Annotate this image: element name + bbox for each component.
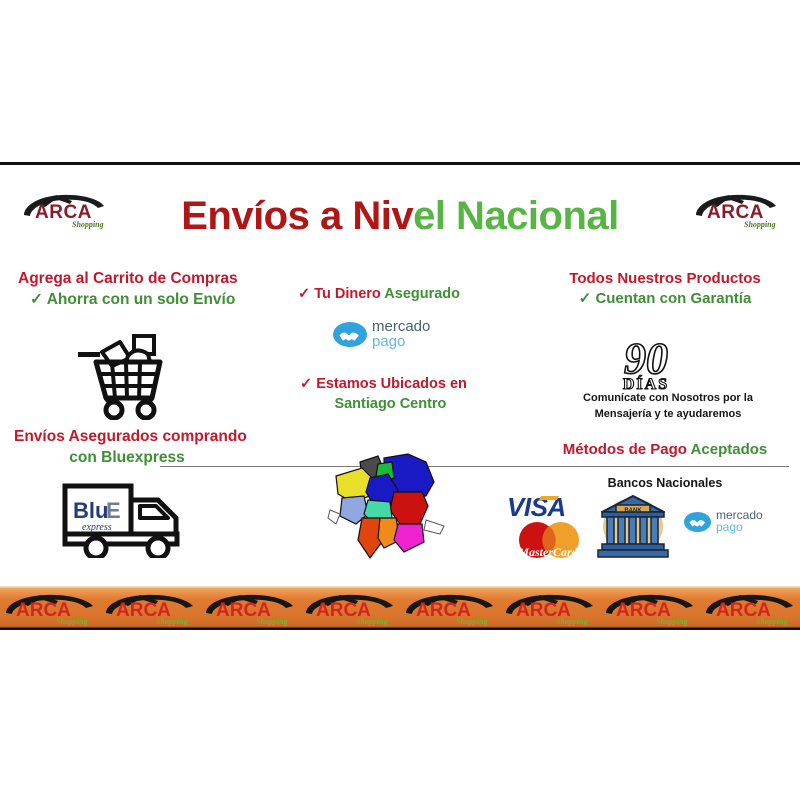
mercadopago-logo-middle: mercado pago — [333, 320, 430, 349]
svg-text:Shopping: Shopping — [56, 617, 88, 626]
payment-line1: Métodos de Pago — [563, 441, 691, 458]
chile-regions-map — [322, 448, 450, 568]
payment-underline — [437, 466, 789, 467]
svg-text:Shopping: Shopping — [256, 617, 288, 626]
svg-text:MasterCard: MasterCard — [517, 545, 578, 559]
mercadopago-handshake-icon — [333, 322, 367, 347]
warranty-caption-line1: Comunícate con Nosotros por la — [583, 392, 753, 404]
mercadopago-logo-payment: mercado pago — [684, 510, 763, 534]
warranty-check-icon: ✓ — [579, 290, 592, 307]
payment-line1-green: Aceptados — [691, 441, 768, 458]
heading-insured-shipping: Envíos Asegurados comprando con Bluexpre… — [14, 427, 240, 469]
delivery-truck-icon: Blu E express — [60, 478, 210, 558]
svg-text:Blu: Blu — [73, 498, 108, 523]
heading-warranty: Todos Nuestros Productos ✓ Cuentan con G… — [543, 269, 787, 310]
warranty-caption-line2: Mensajería y te ayudaremos — [595, 408, 742, 420]
money-line1: Tu Dinero — [314, 286, 384, 302]
title-red-part: Envíos a Niv — [181, 194, 413, 238]
ninety-days-badge-icon: 90 DÍAS — [596, 333, 696, 393]
footer-arca-logo: ARCAShopping — [100, 590, 200, 626]
visa-logo-icon: VISA — [505, 492, 591, 520]
svg-text:Shopping: Shopping — [456, 617, 488, 626]
footer-logo-strip: ARCAShoppingARCAShoppingARCAShoppingARCA… — [0, 590, 800, 626]
bank-building-icon: BANK — [596, 490, 670, 560]
warranty-caption: Comunícate con Nosotros por la Mensajerí… — [548, 391, 788, 423]
warranty-line2: Cuentan con Garantía — [595, 290, 751, 307]
title-green-part: el Nacional — [413, 194, 619, 238]
footer-arca-logo: ARCAShopping — [300, 590, 400, 626]
svg-text:Shopping: Shopping — [756, 617, 788, 626]
money-check-icon: ✓ — [298, 286, 310, 302]
heading-payment-methods: Métodos de Pago Aceptados — [540, 440, 790, 460]
mercadopago-payment-line2: pago — [716, 522, 763, 534]
shopping-cart-icon — [72, 332, 180, 420]
footer-arca-logo: ARCAShopping — [700, 590, 800, 626]
footer-arca-logo: ARCAShopping — [0, 590, 100, 626]
footer-brand-band: ARCAShoppingARCAShoppingARCAShoppingARCA… — [0, 586, 800, 630]
footer-arca-logo: ARCAShopping — [400, 590, 500, 626]
banner-title: Envíos a Nivel Nacional — [0, 194, 800, 238]
cart-line2: Ahorra con un solo Envío — [47, 291, 236, 308]
cart-check-icon: ✓ — [30, 291, 43, 308]
mastercard-logo-icon: MasterCard — [503, 521, 593, 563]
footer-arca-logo: ARCAShopping — [600, 590, 700, 626]
svg-text:express: express — [82, 522, 112, 533]
mercadopago-text-line2: pago — [372, 335, 430, 350]
heading-add-to-cart: Agrega al Carrito de Compras ✓ Ahorra co… — [18, 269, 238, 311]
footer-arca-logo: ARCAShopping — [200, 590, 300, 626]
svg-text:E: E — [106, 498, 121, 523]
location-line1: Estamos Ubicados en — [316, 376, 467, 392]
money-line1-green: Asegurado — [384, 286, 460, 302]
heading-money-secured: ✓ Tu Dinero Asegurado — [298, 285, 460, 305]
svg-text:Shopping: Shopping — [156, 617, 188, 626]
shipping-line1: Envíos Asegurados comprando — [14, 428, 247, 445]
warranty-line1: Todos Nuestros Productos — [569, 270, 760, 287]
promotional-banner: ARCA Shopping ARCA Shopping Envíos a Niv… — [0, 0, 800, 800]
svg-text:Shopping: Shopping — [356, 617, 388, 626]
cart-line1: Agrega al Carrito de Compras — [18, 270, 238, 287]
svg-text:Shopping: Shopping — [556, 617, 588, 626]
location-check-icon: ✓ — [300, 376, 312, 392]
footer-arca-logo: ARCAShopping — [500, 590, 600, 626]
mercadopago-handshake-icon-payment — [684, 512, 711, 532]
heading-location: ✓ Estamos Ubicados en Santiago Centro — [300, 375, 467, 414]
location-line2: Santiago Centro — [300, 395, 467, 415]
svg-text:Shopping: Shopping — [656, 617, 688, 626]
